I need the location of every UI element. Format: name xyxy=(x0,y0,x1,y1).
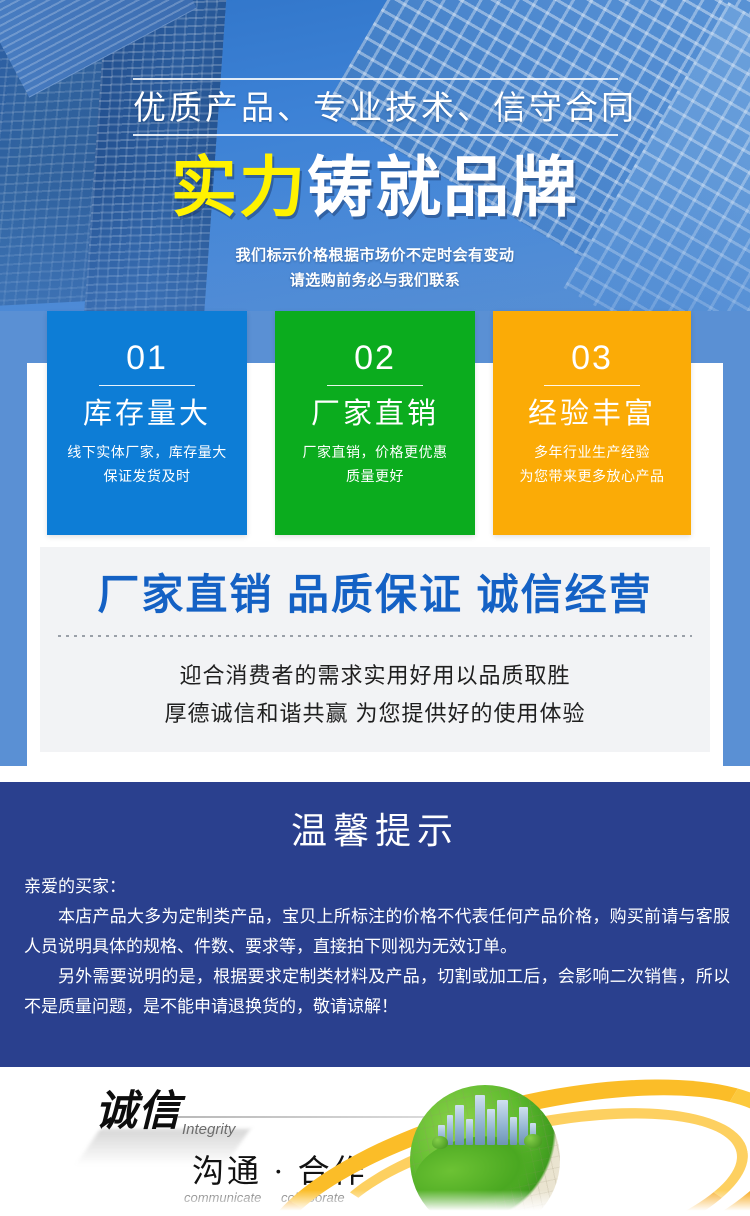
city-skyline-icon xyxy=(436,1087,540,1145)
hero-subtitle-line2: 请选购前务必与我们联系 xyxy=(0,268,750,293)
hero-content: 优质产品、专业技术、信守合同 实力铸就品牌 我们标示价格根据市场价不定时会有变动… xyxy=(0,0,750,311)
hero-subtitle: 我们标示价格根据市场价不定时会有变动 请选购前务必与我们联系 xyxy=(0,243,750,293)
slogan-panel: 厂家直销 品质保证 诚信经营 迎合消费者的需求实用好用以品质取胜 厚德诚信和谐共… xyxy=(40,547,710,752)
promo-page: 优质产品、专业技术、信守合同 实力铸就品牌 我们标示价格根据市场价不定时会有变动… xyxy=(0,0,750,1216)
card-description: 多年行业生产经验 为您带来更多放心产品 xyxy=(493,440,691,488)
hero-headline: 优质产品、专业技术、信守合同 xyxy=(133,86,618,130)
card-separator xyxy=(99,385,195,386)
hero-title-highlight: 实力 xyxy=(171,150,307,224)
slogan-sub: 迎合消费者的需求实用好用以品质取胜 厚德诚信和谐共赢 为您提供好的使用体验 xyxy=(40,657,710,733)
headline-rule-bottom xyxy=(133,134,618,136)
tips-paragraph-1: 本店产品大多为定制类产品，宝贝上所标注的价格不代表任何产品价格，购买前请与客服人… xyxy=(24,902,730,962)
tips-paragraph-2: 另外需要说明的是，根据要求定制类材料及产品，切割或加工后，会影响二次销售，所以不… xyxy=(24,962,730,1022)
tips-salutation: 亲爱的买家： xyxy=(24,872,730,902)
card-title: 经验丰富 xyxy=(493,394,691,434)
middot-separator: · xyxy=(273,1153,287,1189)
slogan-sub-line2: 厚德诚信和谐共赢 为您提供好的使用体验 xyxy=(40,695,710,733)
tips-section: 温馨提示 亲爱的买家： 本店产品大多为定制类产品，宝贝上所标注的价格不代表任何产… xyxy=(0,782,750,1063)
footer-banner: 诚信 Integrity 沟通 · 合作 communicate collabo… xyxy=(0,1063,750,1216)
headline-rule-top xyxy=(133,78,618,80)
hero-title-rest: 铸就品牌 xyxy=(307,150,579,224)
slogan-main: 厂家直销 品质保证 诚信经营 xyxy=(40,568,710,622)
card-number: 03 xyxy=(493,311,691,377)
card-number: 01 xyxy=(47,311,247,377)
card-description: 厂家直销，价格更优惠 质量更好 xyxy=(275,440,475,488)
hero-title: 实力铸就品牌 xyxy=(0,150,750,224)
card-description-line1: 多年行业生产经验 xyxy=(493,440,691,464)
feature-card-3[interactable]: 03 经验丰富 多年行业生产经验 为您带来更多放心产品 xyxy=(493,311,691,535)
card-title: 厂家直销 xyxy=(275,394,475,434)
card-description-line1: 线下实体厂家，库存量大 xyxy=(47,440,247,464)
integrity-cn-text: 诚信 xyxy=(95,1089,181,1135)
card-separator xyxy=(327,385,423,386)
card-title: 库存量大 xyxy=(47,394,247,434)
hero-banner: 优质产品、专业技术、信守合同 实力铸就品牌 我们标示价格根据市场价不定时会有变动… xyxy=(0,0,750,311)
feature-cards: 01 库存量大 线下实体厂家，库存量大 保证发货及时 02 厂家直销 厂家直销，… xyxy=(0,311,750,537)
slogan-dotted-divider xyxy=(58,635,692,637)
footer-bottom-fade xyxy=(0,1190,750,1216)
feature-card-1[interactable]: 01 库存量大 线下实体厂家，库存量大 保证发货及时 xyxy=(47,311,247,535)
slogan-sub-line1: 迎合消费者的需求实用好用以品质取胜 xyxy=(40,657,710,695)
integrity-en-text: Integrity xyxy=(182,1121,235,1138)
card-description-line2: 保证发货及时 xyxy=(47,464,247,488)
tips-title: 温馨提示 xyxy=(0,808,750,854)
card-description: 线下实体厂家，库存量大 保证发货及时 xyxy=(47,440,247,488)
card-description-line1: 厂家直销，价格更优惠 xyxy=(275,440,475,464)
card-separator xyxy=(544,385,640,386)
card-description-line2: 质量更好 xyxy=(275,464,475,488)
hero-headline-box: 优质产品、专业技术、信守合同 xyxy=(133,78,618,136)
communicate-cn-text: 沟通 xyxy=(192,1153,262,1189)
feature-card-2[interactable]: 02 厂家直销 厂家直销，价格更优惠 质量更好 xyxy=(275,311,475,535)
card-number: 02 xyxy=(275,311,475,377)
card-description-line2: 为您带来更多放心产品 xyxy=(493,464,691,488)
tips-body: 亲爱的买家： 本店产品大多为定制类产品，宝贝上所标注的价格不代表任何产品价格，购… xyxy=(24,872,730,1022)
hero-subtitle-line1: 我们标示价格根据市场价不定时会有变动 xyxy=(0,243,750,268)
